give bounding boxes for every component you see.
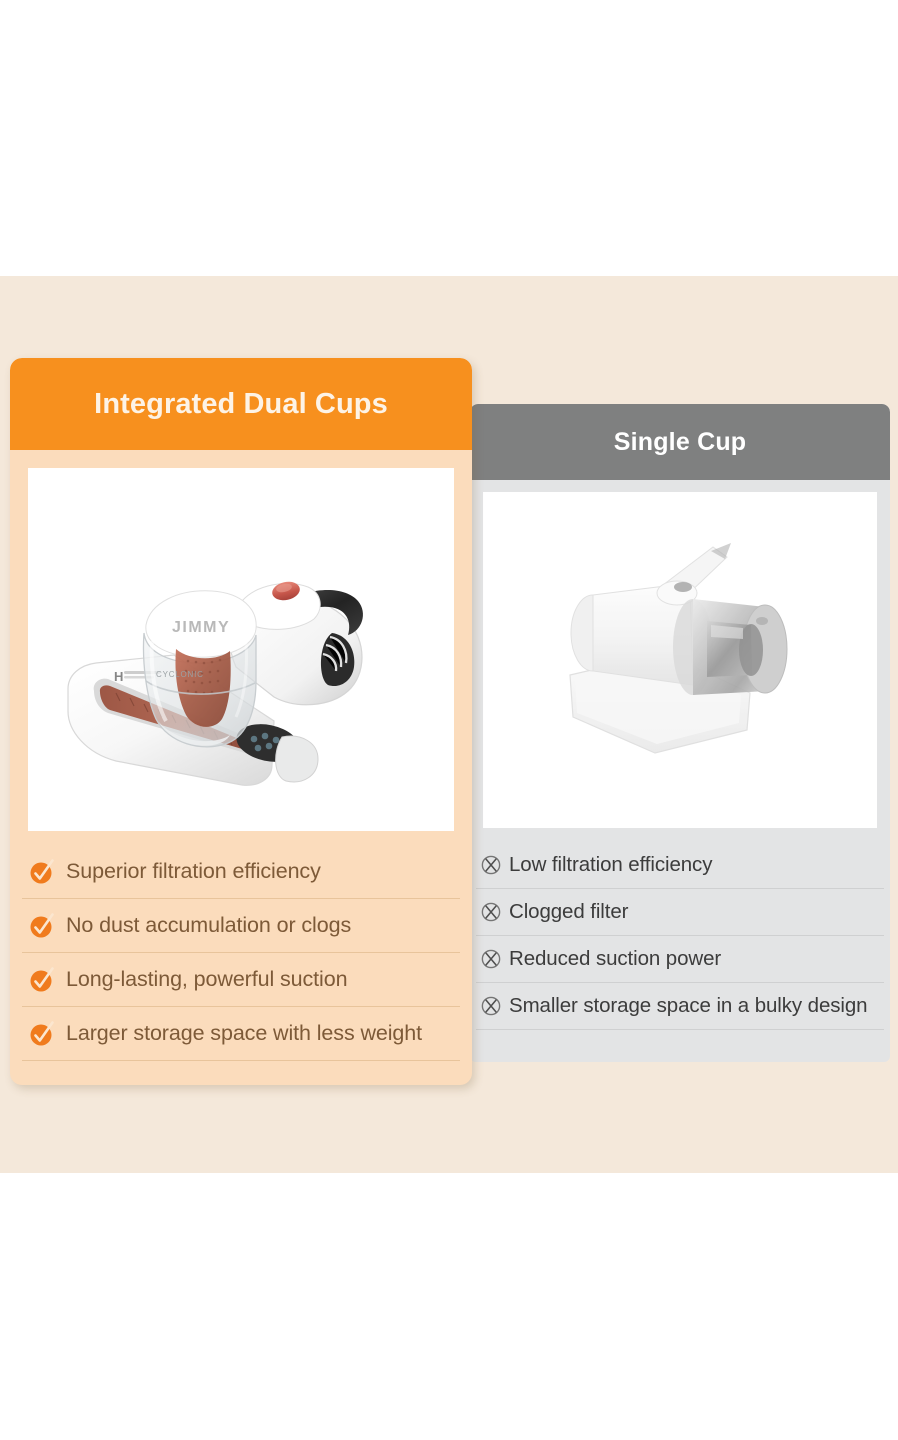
single-cup-header: Single Cup xyxy=(470,404,890,480)
svg-text:CYCLONIC: CYCLONIC xyxy=(156,670,204,679)
orange-check-circle-icon xyxy=(28,1020,56,1048)
gray-x-circle-icon xyxy=(480,995,502,1017)
svg-text:JIMMY: JIMMY xyxy=(172,619,230,636)
gray-x-circle-icon xyxy=(480,901,502,923)
dual-cups-header: Integrated Dual Cups xyxy=(10,358,472,450)
list-item: Low filtration efficiency xyxy=(476,842,884,889)
single-cup-feature-list: Low filtration efficiency Clogged filter… xyxy=(470,842,890,1030)
list-item-label: Superior filtration efficiency xyxy=(66,859,321,884)
orange-check-circle-icon xyxy=(28,858,56,886)
list-item: Superior filtration efficiency xyxy=(22,845,460,899)
list-item: Long-lasting, powerful suction xyxy=(22,953,460,1007)
list-item-label: Larger storage space with less weight xyxy=(66,1021,422,1046)
list-item: Larger storage space with less weight xyxy=(22,1007,460,1061)
orange-check-circle-icon xyxy=(28,966,56,994)
list-item-label: Clogged filter xyxy=(509,900,628,924)
orange-check-circle-icon xyxy=(28,912,56,940)
list-item-label: Low filtration efficiency xyxy=(509,853,712,877)
svg-text:H: H xyxy=(114,669,123,684)
dual-cups-product-image: H xyxy=(46,485,436,815)
dual-cups-image-frame: H xyxy=(28,468,454,831)
list-item: Smaller storage space in a bulky design xyxy=(476,983,884,1030)
single-cup-product-image xyxy=(515,525,845,795)
single-cup-title: Single Cup xyxy=(614,428,747,457)
list-item: Reduced suction power xyxy=(476,936,884,983)
list-item: Clogged filter xyxy=(476,889,884,936)
comparison-page: Single Cup xyxy=(0,0,898,1440)
gray-x-circle-icon xyxy=(480,854,502,876)
list-item-label: Long-lasting, powerful suction xyxy=(66,967,347,992)
dual-cups-card: Integrated Dual Cups xyxy=(10,358,472,1085)
list-item-label: Reduced suction power xyxy=(509,947,721,971)
list-item-label: Smaller storage space in a bulky design xyxy=(509,994,867,1018)
dual-cups-title: Integrated Dual Cups xyxy=(94,388,388,421)
single-cup-panel: Single Cup xyxy=(470,404,890,1062)
list-item-label: No dust accumulation or clogs xyxy=(66,913,351,938)
list-item: No dust accumulation or clogs xyxy=(22,899,460,953)
single-cup-image-frame xyxy=(483,492,877,828)
dual-cups-feature-list: Superior filtration efficiency No dust a… xyxy=(10,845,472,1061)
gray-x-circle-icon xyxy=(480,948,502,970)
